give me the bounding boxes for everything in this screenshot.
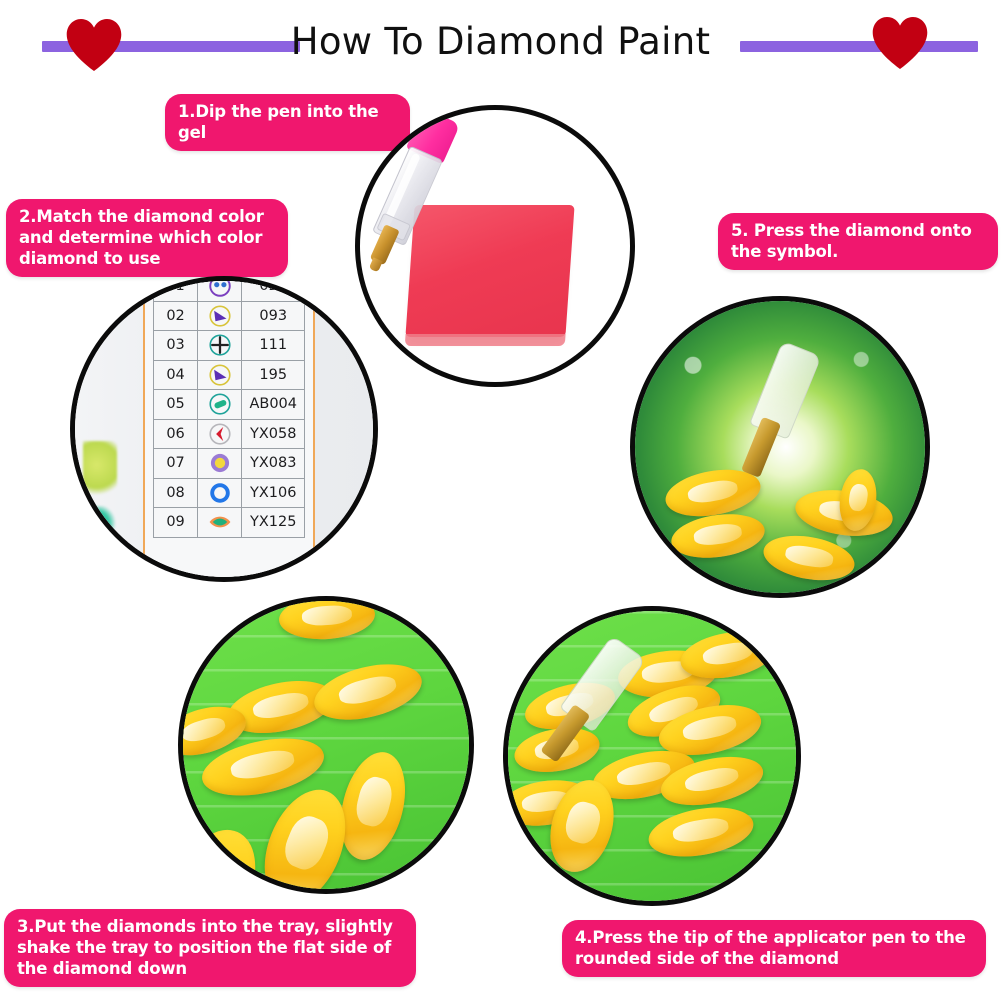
chart-cell-code: YX083: [242, 449, 305, 479]
background-blur-blob: [83, 441, 117, 501]
chart-symbol-icon: [198, 478, 242, 508]
chart-symbol-icon: [198, 360, 242, 390]
step-5-photo: [630, 296, 930, 598]
color-chart-row: 08YX106: [154, 478, 305, 508]
color-chart-row: 06YX058: [154, 419, 305, 449]
step-4-label: 4.Press the tip of the applicator pen to…: [562, 920, 986, 977]
chart-symbol-icon: [198, 449, 242, 479]
chart-cell-no: 03: [154, 331, 198, 361]
step-5-label: 5. Press the diamond onto the symbol.: [718, 213, 998, 270]
step-4-photo: [503, 606, 801, 906]
step-3-photo: [178, 596, 474, 894]
step-1-photo: [355, 105, 635, 387]
chart-cell-code: AB004: [242, 390, 305, 420]
chart-cell-no: 02: [154, 301, 198, 331]
step-2-label: 2.Match the diamond color and determine …: [6, 199, 288, 277]
chart-cell-no: 01: [154, 276, 198, 301]
chart-cell-code: 195: [242, 360, 305, 390]
chart-cell-code: 111: [242, 331, 305, 361]
chart-cell-code: 028: [242, 276, 305, 301]
chart-cell-no: 09: [154, 508, 198, 538]
chart-symbol-icon: [198, 508, 242, 538]
infographic-poster: How To Diamond Paint 1.Dip the pen into …: [0, 0, 1001, 1001]
chart-cell-code: YX125: [242, 508, 305, 538]
chart-cell-no: 06: [154, 419, 198, 449]
chart-cell-no: 04: [154, 360, 198, 390]
chart-symbol-icon: [198, 276, 242, 301]
step-2-photo: 0102802093031110419505AB00406YX05807YX08…: [70, 276, 378, 582]
diamond: [278, 596, 377, 642]
page-title: How To Diamond Paint: [0, 20, 1001, 63]
pen-tip: [741, 417, 781, 478]
chart-symbol-icon: [198, 331, 242, 361]
chart-cell-no: 05: [154, 390, 198, 420]
chart-cell-no: 07: [154, 449, 198, 479]
color-chart-row: 02093: [154, 301, 305, 331]
background-blur-blob: [77, 506, 117, 540]
color-chart-row: 01028: [154, 276, 305, 301]
color-chart-row: 03111: [154, 331, 305, 361]
color-chart-row: 07YX083: [154, 449, 305, 479]
chart-cell-code: 093: [242, 301, 305, 331]
color-chart-row: 09YX125: [154, 508, 305, 538]
color-chart-row: 05AB004: [154, 390, 305, 420]
color-chart-row: 04195: [154, 360, 305, 390]
chart-cell-code: YX106: [242, 478, 305, 508]
gel-pad: [405, 205, 574, 337]
chart-symbol-icon: [198, 390, 242, 420]
chart-cell-no: 08: [154, 478, 198, 508]
color-chart-table: 0102802093031110419505AB00406YX05807YX08…: [153, 276, 305, 538]
step-3-label: 3.Put the diamonds into the tray, slight…: [4, 909, 416, 987]
chart-symbol-icon: [198, 301, 242, 331]
chart-cell-code: YX058: [242, 419, 305, 449]
chart-symbol-icon: [198, 419, 242, 449]
